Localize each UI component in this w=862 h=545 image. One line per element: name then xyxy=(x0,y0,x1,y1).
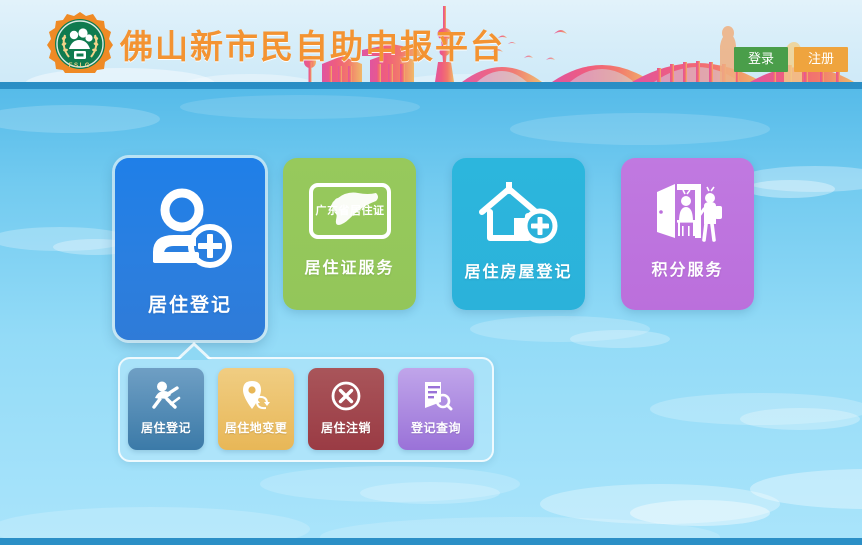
login-button[interactable]: 登录 xyxy=(734,47,788,72)
tile-housing-registration[interactable]: 居住房屋登记 xyxy=(452,158,585,310)
submenu-items: 居住登记 居住地变更 xyxy=(128,368,474,450)
circle-x-icon xyxy=(329,380,363,412)
submenu-address-change[interactable]: 居住地变更 xyxy=(218,368,294,450)
house-add-icon xyxy=(476,182,562,244)
fslg-badge-icon: FSLG xyxy=(45,11,115,73)
submenu-label: 居住地变更 xyxy=(225,419,288,436)
footer-bar xyxy=(0,538,862,545)
person-add-icon xyxy=(144,188,236,270)
site-header: FSLG 佛山新市民自助申报平台 登录 注册 xyxy=(0,0,862,82)
tile-points-service[interactable]: 积分服务 xyxy=(621,158,754,310)
tile-residence-permit-service[interactable]: 广东省居住证 居住证服务 xyxy=(283,158,416,310)
location-pin-swap-icon xyxy=(239,380,273,412)
submenu-registration-query[interactable]: 登记查询 xyxy=(398,368,474,450)
permit-card-text: 广东省居住证 xyxy=(315,203,384,217)
submenu-arrow-inner-icon xyxy=(179,346,209,360)
residence-permit-card-icon: 广东省居住证 xyxy=(308,182,392,240)
page-title: 佛山新市民自助申报平台 xyxy=(120,20,505,68)
submenu-label: 登记查询 xyxy=(411,419,461,436)
service-tiles: 居住登记 广东省居住证 居住证服务 xyxy=(115,158,775,343)
submenu-label: 居住登记 xyxy=(141,419,191,436)
header-divider xyxy=(0,82,862,89)
header-actions: 登录 注册 xyxy=(734,47,848,72)
door-people-icon xyxy=(649,182,727,242)
tile-label: 居住登记 xyxy=(148,290,232,317)
page-root: FSLG 佛山新市民自助申报平台 登录 注册 xyxy=(0,0,862,545)
person-walking-icon xyxy=(149,380,183,412)
logo-initials: FSLG xyxy=(69,63,91,69)
tile-residence-registration[interactable]: 居住登记 xyxy=(115,158,265,340)
submenu-residence-registration[interactable]: 居住登记 xyxy=(128,368,204,450)
submenu-panel: 居住登记 居住地变更 xyxy=(118,357,494,462)
platform-logo: FSLG xyxy=(45,11,115,73)
tile-label: 居住房屋登记 xyxy=(464,258,572,282)
document-search-icon xyxy=(419,380,453,412)
register-button[interactable]: 注册 xyxy=(794,47,848,72)
tile-label: 积分服务 xyxy=(651,256,723,280)
submenu-label: 居住注销 xyxy=(321,419,371,436)
tile-label: 居住证服务 xyxy=(304,254,394,278)
submenu-residence-cancel[interactable]: 居住注销 xyxy=(308,368,384,450)
